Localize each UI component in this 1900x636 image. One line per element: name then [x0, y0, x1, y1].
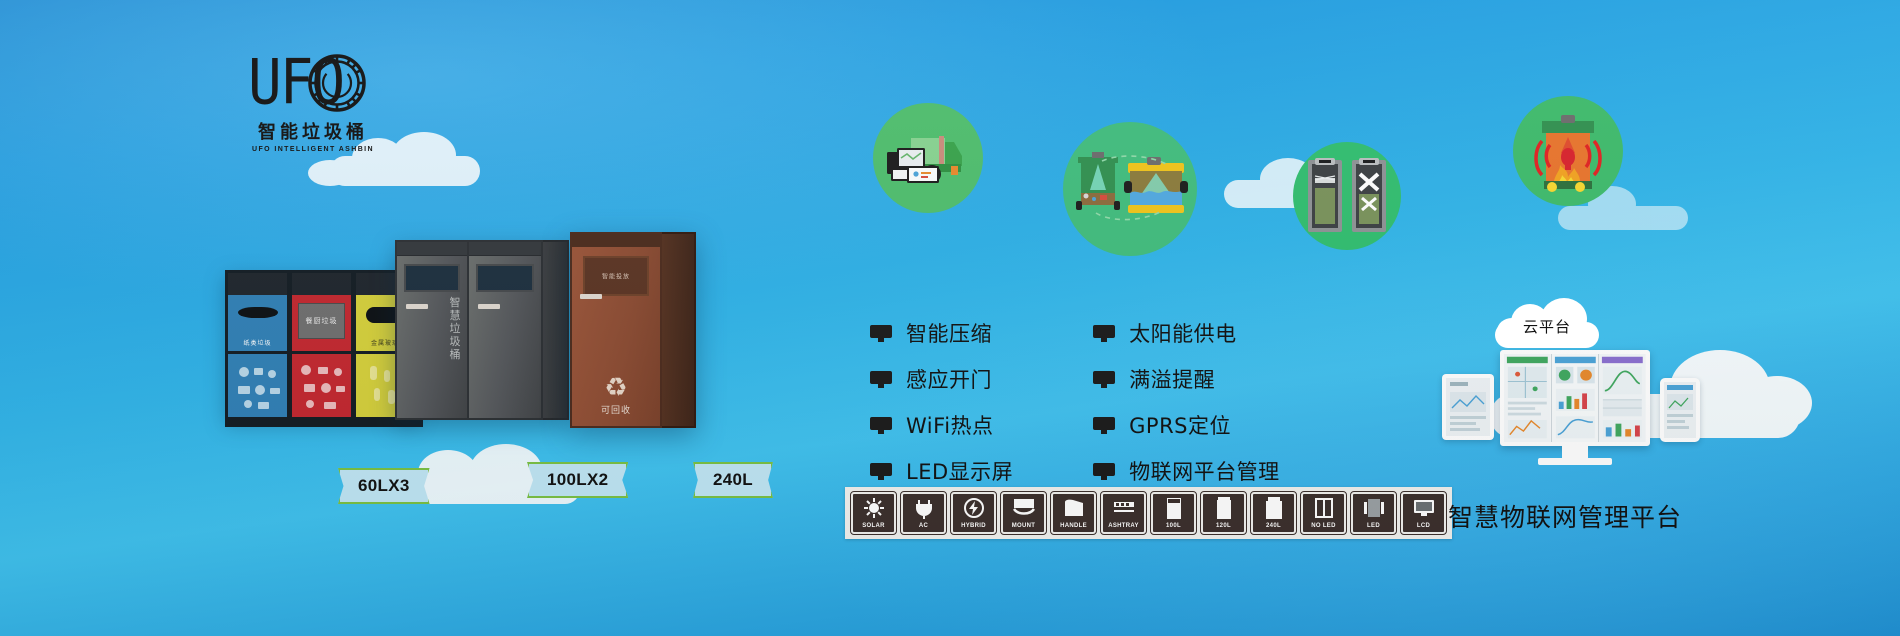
spec-chip-label: ASHTRAY: [1103, 522, 1144, 530]
compaction-icon: [1304, 154, 1390, 238]
brown-bin-side-panel: [662, 232, 696, 428]
ashtray-icon: [1103, 494, 1144, 522]
feature-column-right: 太阳能供电 满溢提醒 GPRS定位 物联网平台管理: [1093, 318, 1280, 486]
feature-label: 满溢提醒: [1129, 364, 1215, 394]
cloud-platform-badge: 云平台: [1495, 296, 1599, 348]
bin-compartment-paper: 纸类垃圾: [225, 270, 289, 420]
feature-circle-collection: [873, 103, 983, 213]
capacity-tag-label: 60LX3: [358, 476, 410, 496]
feature-circle-fill-level: [1063, 122, 1197, 256]
feature-label: 太阳能供电: [1129, 318, 1237, 348]
brown-bin-front: 智能投放 ♻ 可回收: [570, 232, 662, 428]
brown-bin-top: [572, 234, 660, 247]
screen-icon: [870, 417, 892, 434]
logo-mark: UFO: [248, 52, 378, 114]
mount-icon: [1003, 494, 1044, 522]
feature-label: 感应开门: [906, 364, 992, 394]
promo-banner: UFO 智能垃圾桶 UFO IN: [0, 0, 1900, 636]
fill-level-sensor-icon: [1072, 151, 1188, 227]
capacity-tag-100lx2: 100LX2: [527, 462, 628, 498]
led-icon: [1353, 494, 1394, 522]
feature-item: 满溢提醒: [1093, 364, 1280, 394]
kitchen-waste-graphic: [292, 354, 356, 420]
feature-list: 智能压缩 感应开门 WiFi热点 LED显示屏 太阳能供电 满溢提醒: [870, 318, 1280, 486]
recycle-icon: ♻: [572, 374, 660, 400]
bin-label-kitchen: 餐厨垃圾: [299, 316, 344, 326]
spec-chip-120l: 120L: [1201, 492, 1246, 534]
sorting-bin-base: [225, 420, 423, 427]
capacity-tag-label: 100LX2: [547, 470, 608, 490]
feature-label: WiFi热点: [906, 410, 994, 440]
monitor-pane-map: [1504, 354, 1552, 442]
capacity-tag-label: 240L: [713, 470, 753, 490]
bin-label-paper: 纸类垃圾: [228, 338, 287, 347]
bin-top: [228, 273, 287, 295]
spec-chip-label: HYBRID: [953, 522, 994, 530]
window-slot-icon: 餐厨垃圾: [298, 303, 345, 339]
spec-chip-ac: AC: [901, 492, 946, 534]
spec-chip-label: MOUNT: [1003, 522, 1044, 530]
tablet-left-screen: [1446, 378, 1490, 436]
spec-chip-label: NO LED: [1303, 522, 1344, 530]
sorting-bin-3compartment: 纸类垃圾 餐厨垃圾: [225, 270, 417, 420]
feature-item: WiFi热点: [870, 410, 1013, 440]
feature-item: 智能压缩: [870, 318, 1013, 348]
no-led-icon: [1303, 494, 1344, 522]
spec-chip-label: HANDLE: [1053, 522, 1094, 530]
bin-lower-paper: [228, 351, 287, 417]
spec-chip-solar: SOLAR: [851, 492, 896, 534]
power-plug-icon: [903, 494, 944, 522]
capacity-tag-240l: 240L: [693, 462, 773, 498]
spec-chip-handle: HANDLE: [1051, 492, 1096, 534]
screen-icon: [870, 325, 892, 342]
monitor-base: [1538, 458, 1612, 465]
feature-label: 物联网平台管理: [1129, 456, 1280, 486]
tablet-right: [1660, 378, 1700, 442]
monitor-icon: [1500, 350, 1650, 465]
spec-chip-label: LED: [1353, 522, 1394, 530]
screen-icon: [1093, 417, 1115, 434]
spec-chip-label: SOLAR: [853, 522, 894, 530]
feature-label: 智能压缩: [906, 318, 992, 348]
monitor-screen: [1500, 350, 1650, 446]
feature-circle-compaction: [1293, 142, 1401, 250]
monitor-pane-dashboard: [1552, 354, 1600, 442]
cloud-platform-label: 云平台: [1495, 316, 1599, 337]
gray-bin-right: [469, 240, 543, 420]
monitor-pane-chart: [1599, 354, 1646, 442]
feature-item: 感应开门: [870, 364, 1013, 394]
platform-title: 智慧物联网管理平台: [1420, 498, 1710, 534]
bin-240l-icon: [1253, 494, 1294, 522]
card-slot-icon: [478, 304, 500, 309]
tablet-left: [1442, 374, 1494, 440]
gray-bin-screen: [404, 264, 460, 292]
spec-chip-label: 120L: [1203, 522, 1244, 530]
feature-item: 太阳能供电: [1093, 318, 1280, 348]
spec-chip-hybrid: HYBRID: [951, 492, 996, 534]
feature-item: LED显示屏: [870, 456, 1013, 486]
gray-bin-top: [397, 242, 467, 256]
bin-compartment-kitchen: 餐厨垃圾: [289, 270, 353, 420]
smart-bin-gray-double: 智慧垃圾桶: [395, 240, 569, 420]
tablet-right-screen: [1664, 382, 1696, 438]
brown-bin-screen-label: 智能投放: [585, 272, 647, 281]
brown-bin-recycle-label: 可回收: [572, 403, 660, 416]
screen-icon: [1093, 325, 1115, 342]
capacity-tag-60lx3: 60LX3: [338, 468, 430, 504]
spec-chip-100l: 100L: [1151, 492, 1196, 534]
gray-bin-left: 智慧垃圾桶: [395, 240, 469, 420]
monitor-stand: [1562, 446, 1588, 458]
feature-label: GPRS定位: [1129, 410, 1231, 440]
spec-chip-label: 100L: [1153, 522, 1194, 530]
sun-icon: [853, 494, 894, 522]
feature-item: 物联网平台管理: [1093, 456, 1280, 486]
ring-icon: [308, 54, 366, 112]
spec-chip-label: AC: [903, 522, 944, 530]
logo-english-name: UFO INTELLIGENT ASHBIN: [248, 146, 378, 153]
fire-alarm-icon: [1524, 107, 1612, 195]
gray-bin-top: [469, 242, 541, 256]
card-slot-icon: [406, 304, 428, 309]
gray-bin-vertical-label: 智慧垃圾桶: [449, 296, 461, 361]
screen-icon: [870, 463, 892, 480]
card-slot-icon: [580, 294, 602, 299]
handle-icon: [1053, 494, 1094, 522]
spec-chip-led: LED: [1351, 492, 1396, 534]
feature-column-left: 智能压缩 感应开门 WiFi热点 LED显示屏: [870, 318, 1013, 486]
brown-bin-screen: 智能投放: [583, 256, 649, 296]
feature-label: LED显示屏: [906, 456, 1013, 486]
oval-slot-icon: [238, 307, 278, 318]
spec-chip-no-led: NO LED: [1301, 492, 1346, 534]
smart-bin-brown: 智能投放 ♻ 可回收: [570, 232, 696, 428]
spec-chip-240l: 240L: [1251, 492, 1296, 534]
spec-icon-strip: SOLAR AC HYBRID MOUNT HANDLE: [845, 487, 1452, 539]
screen-icon: [870, 371, 892, 388]
feature-circle-fire-alarm: [1513, 96, 1623, 206]
bin-100l-icon: [1153, 494, 1194, 522]
gray-bin-screen: [476, 264, 534, 292]
spec-chip-mount: MOUNT: [1001, 492, 1046, 534]
logo-chinese-name: 智能垃圾桶: [248, 118, 378, 144]
spec-chip-ashtray: ASHTRAY: [1101, 492, 1146, 534]
bin-top: [292, 273, 351, 295]
brand-logo: UFO 智能垃圾桶 UFO IN: [248, 52, 378, 153]
bin-120l-icon: [1203, 494, 1244, 522]
screen-icon: [1093, 371, 1115, 388]
spec-chip-label: 240L: [1253, 522, 1294, 530]
collection-truck-icon: [885, 128, 971, 188]
lightning-icon: [953, 494, 994, 522]
cloud-icon: 云平台: [1495, 296, 1599, 348]
bin-lower-kitchen: [292, 351, 351, 417]
bin-upper-paper: 纸类垃圾: [228, 295, 287, 351]
feature-item: GPRS定位: [1093, 410, 1280, 440]
screen-icon: [1093, 463, 1115, 480]
gray-bin-side-panel: [543, 240, 569, 420]
paper-waste-graphic: [228, 354, 292, 420]
bin-upper-kitchen: 餐厨垃圾: [292, 295, 351, 351]
